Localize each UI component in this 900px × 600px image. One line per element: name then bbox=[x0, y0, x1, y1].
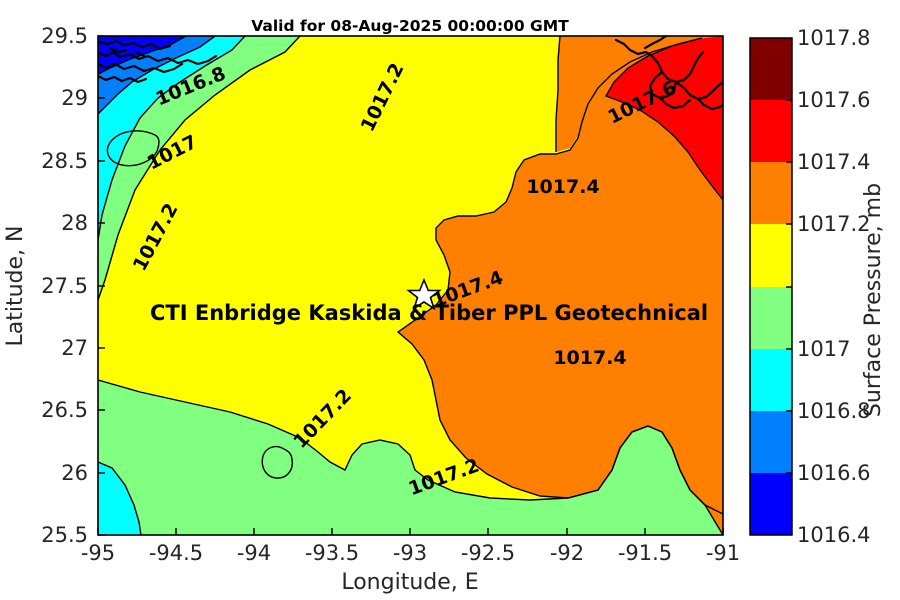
colorbar-tick-label: 1017.4 bbox=[797, 150, 870, 174]
colorbar-tick-label: 1017.2 bbox=[797, 212, 870, 236]
y-tick-label: 29 bbox=[61, 86, 88, 110]
colorbar-tick-label: 1017 bbox=[797, 337, 850, 361]
x-axis-tick-labels: -95 -94.5 -94 -93.5 -93 -92.5 -92 -91.5 … bbox=[81, 541, 740, 565]
y-tick-label: 28 bbox=[61, 211, 88, 235]
y-tick-label: 29.5 bbox=[41, 24, 88, 48]
x-tick-label: -92 bbox=[550, 541, 584, 565]
colorbar-swatch bbox=[750, 411, 792, 473]
y-tick-label: 26.5 bbox=[41, 398, 88, 422]
colorbar-tick-label: 1016.6 bbox=[797, 461, 870, 485]
pressure-contour-figure: 1016.8 1017 1017.2 1017.2 1017.6 1017.4 … bbox=[0, 0, 900, 600]
x-tick-label: -94 bbox=[237, 541, 271, 565]
colorbar-swatch bbox=[750, 162, 792, 224]
figure-root: 1016.8 1017 1017.2 1017.2 1017.6 1017.4 … bbox=[0, 0, 900, 600]
page-title: Valid for 08-Aug-2025 00:00:00 GMT bbox=[251, 17, 569, 35]
x-tick-label: -91.5 bbox=[618, 541, 672, 565]
colorbar-title: Surface Pressure, mb bbox=[861, 183, 886, 417]
colorbar-swatch bbox=[750, 224, 792, 287]
contour-label: 1017.4 bbox=[553, 347, 626, 369]
y-tick-label: 27 bbox=[61, 336, 88, 360]
colorbar-swatch bbox=[750, 100, 792, 162]
colorbar-tick-label: 1016.8 bbox=[797, 399, 870, 423]
colorbar-swatch bbox=[750, 287, 792, 349]
contour-label: 1017.4 bbox=[526, 176, 599, 198]
x-tick-label: -92.5 bbox=[461, 541, 515, 565]
y-tick-label: 25.5 bbox=[41, 523, 88, 547]
x-tick-label: -93.5 bbox=[305, 541, 359, 565]
colorbar-tick-label: 1017.6 bbox=[797, 88, 870, 112]
x-tick-label: -93 bbox=[393, 541, 427, 565]
colorbar-tick-label: 1016.4 bbox=[797, 523, 870, 547]
y-axis-title: Latitude, N bbox=[3, 226, 28, 347]
colorbar-tick-label: 1017.8 bbox=[797, 26, 870, 50]
x-tick-label: -94.5 bbox=[149, 541, 203, 565]
y-tick-label: 28.5 bbox=[41, 149, 88, 173]
x-tick-label: -91 bbox=[706, 541, 740, 565]
colorbar-swatch bbox=[750, 38, 792, 100]
colorbar-swatch bbox=[750, 473, 792, 535]
y-tick-label: 26 bbox=[61, 461, 88, 485]
x-axis-title: Longitude, E bbox=[341, 570, 478, 595]
y-tick-label: 27.5 bbox=[41, 274, 88, 298]
colorbar-swatch bbox=[750, 349, 792, 411]
site-label: CTI Enbridge Kaskida & Tiber PPL Geotech… bbox=[150, 301, 708, 325]
